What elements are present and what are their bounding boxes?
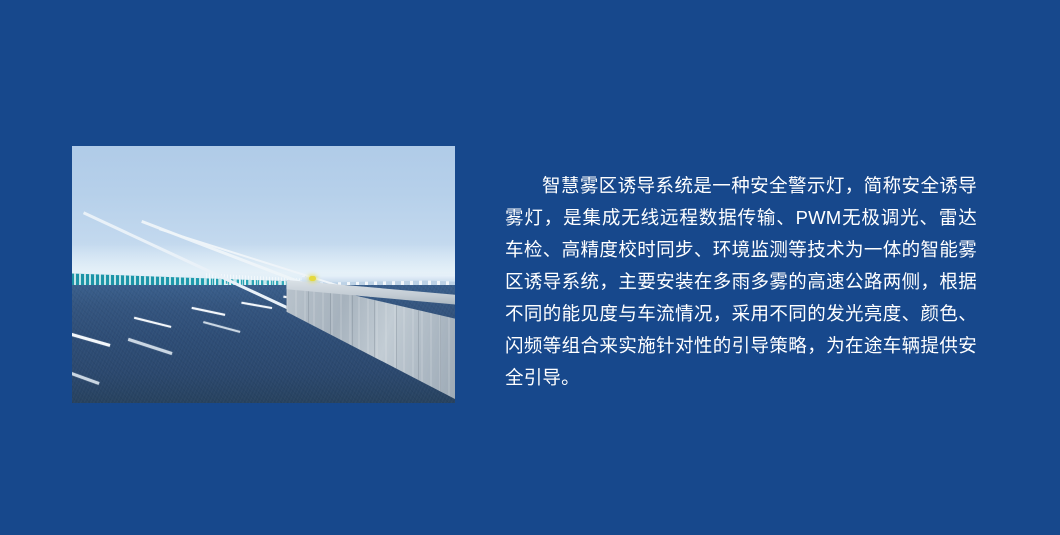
photo-canvas xyxy=(72,146,455,403)
slide-canvas: 智慧雾区诱导系统是一种安全警示灯，简称安全诱导雾灯，是集成无线远程数据传输、PW… xyxy=(0,0,1060,535)
description-paragraph: 智慧雾区诱导系统是一种安全警示灯，简称安全诱导雾灯，是集成无线远程数据传输、PW… xyxy=(505,170,977,394)
description-text-block: 智慧雾区诱导系统是一种安全警示灯，简称安全诱导雾灯，是集成无线远程数据传输、PW… xyxy=(505,170,977,394)
highway-photo xyxy=(72,146,455,403)
